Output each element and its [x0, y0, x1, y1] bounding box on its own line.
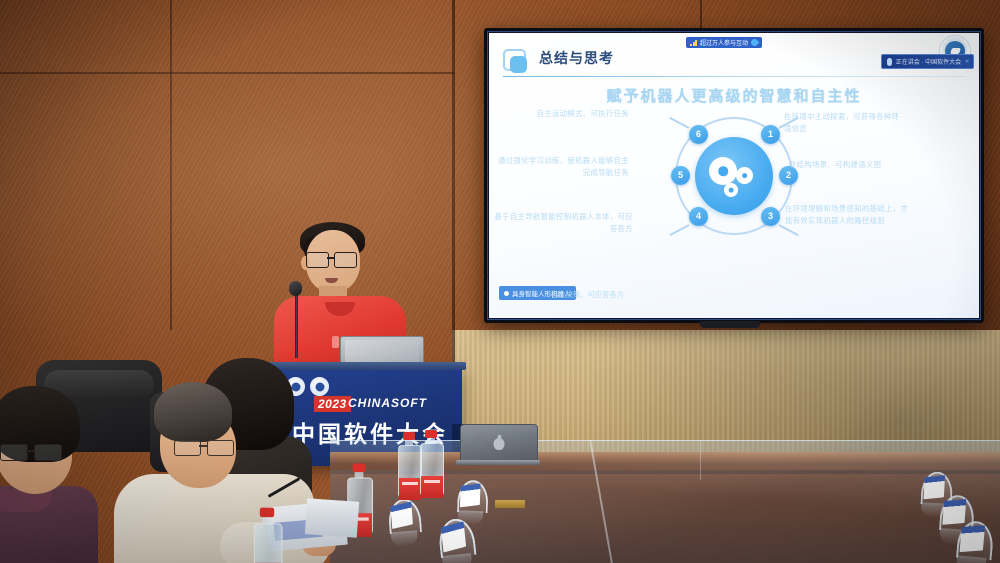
nameplate-holder: [457, 480, 485, 519]
gears-icon: [695, 137, 773, 215]
glass-corner-seam: [700, 440, 701, 480]
viewer-count-text: 超过万人参与互动: [700, 38, 748, 47]
diagram-node-3: 3: [761, 207, 780, 226]
stream-status-text: 正在讲会 · 中国软件大会: [896, 57, 961, 66]
presenter-glasses: [306, 252, 358, 267]
slide-text-3: 在环境理解和场景感知的基础上，才能有效实现机器人的路径规划: [785, 203, 909, 227]
diagram-node-1: 1: [761, 125, 780, 144]
attendee-glasses: [174, 440, 236, 456]
slide-text-5: 通过强化学习训练，使机器人能够自主完成导航任务: [495, 155, 629, 179]
diagram-node-5: 5: [671, 166, 690, 185]
water-bottle: [398, 432, 420, 496]
podium-brand-en: CHINASOFT: [348, 396, 427, 410]
bars-icon: [690, 40, 697, 46]
water-bottle: [254, 508, 280, 563]
rounded-square-icon: [503, 49, 529, 74]
slide-badge-tail: 自主决策，可应答各方: [551, 290, 624, 300]
flame-icon: [750, 38, 760, 48]
screenshot-root: 总结与思考 赋予机器人更高级的智慧和自主性 1 2 3 4: [0, 0, 1000, 563]
diagram-node-4: 4: [689, 207, 708, 226]
slide-text-2: 非结构场景、可构建语义图: [789, 159, 907, 171]
slide-title: 赋予机器人更高级的智慧和自主性: [489, 85, 979, 106]
diagram-node-6: 6: [689, 125, 708, 144]
paper-documents: [305, 498, 359, 538]
nameplate-holder: [437, 517, 473, 563]
macbook-laptop: [456, 424, 540, 466]
slide-header-title: 总结与思考: [539, 48, 614, 68]
gooseneck-microphone-stand: [295, 288, 298, 358]
nameplate-holder: [387, 498, 418, 540]
diagram-spoke: [669, 224, 689, 236]
diagram-spoke: [669, 117, 689, 129]
viewer-count-overlay[interactable]: 超过万人参与互动: [686, 37, 762, 48]
table-brass-plate: [495, 500, 525, 508]
nameplate-holder: [955, 520, 990, 563]
screen-stand: [700, 321, 760, 328]
water-bottle: [420, 430, 442, 494]
apple-logo-icon: [494, 438, 505, 450]
presentation-slide: 总结与思考 赋予机器人更高级的智慧和自主性 1 2 3 4: [489, 33, 979, 318]
attendee-front-left: [0, 386, 116, 563]
stream-status-bar[interactable]: 正在讲会 · 中国软件大会 «: [881, 54, 974, 69]
projection-screen: 总结与思考 赋予机器人更高级的智慧和自主性 1 2 3 4: [484, 28, 984, 323]
header-divider: [503, 76, 965, 77]
shirt-graphic: [332, 336, 339, 348]
slide-text-1: 在环境中主动探索，可获得各种环境信息: [784, 111, 904, 135]
double-chevron-icon[interactable]: «: [965, 58, 968, 65]
mic-icon: [887, 58, 892, 66]
slide-text-6: 自主运动模式、可执行任务: [499, 108, 629, 120]
badge-dot-icon: [504, 291, 509, 296]
attendee-glasses: [0, 444, 62, 460]
slide-text-4: 基于自主导航智能控制机器人本体，可应答各方: [493, 211, 633, 235]
circular-diagram: 1 2 3 4 5 6: [669, 111, 799, 241]
microphone-icon: [289, 281, 302, 296]
